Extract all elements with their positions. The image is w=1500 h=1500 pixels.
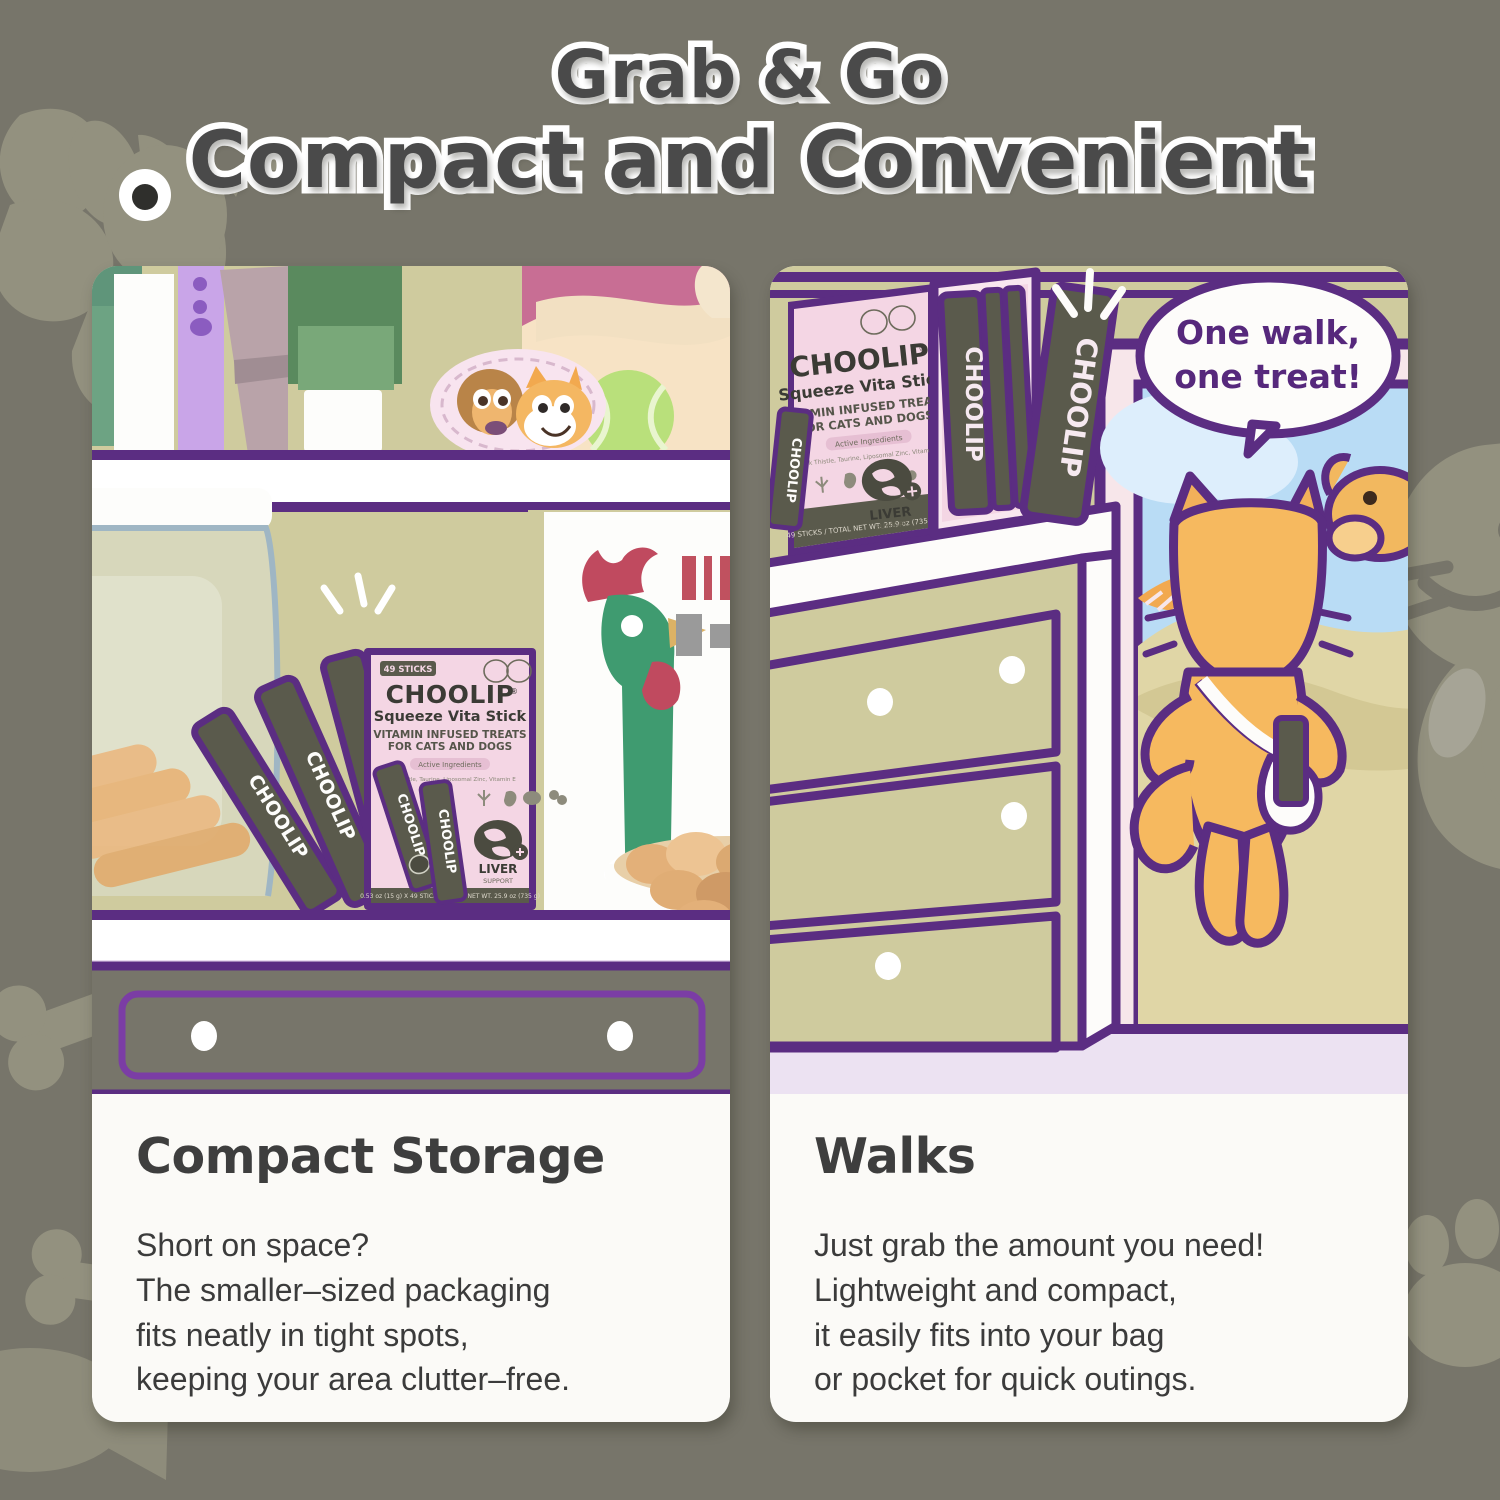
card-body-line: Lightweight and compact, bbox=[814, 1268, 1364, 1313]
card-body-line: Just grab the amount you need! bbox=[814, 1223, 1364, 1268]
illustration-doorway-walk: One walk, one treat! bbox=[770, 266, 1408, 1094]
dresser-knob bbox=[999, 656, 1025, 684]
illustration-pantry-shelf: CHOOLIP CHOOLIP CHOOLIP bbox=[92, 266, 730, 1094]
card-title: Walks bbox=[814, 1128, 1364, 1185]
svg-text:One walk,: One walk, bbox=[1176, 313, 1360, 352]
card-body-line: Short on space? bbox=[136, 1223, 686, 1268]
lower-shelf-board bbox=[92, 920, 730, 962]
feature-card-walks[interactable]: One walk, one treat! bbox=[770, 266, 1408, 1422]
dresser bbox=[770, 506, 1116, 1048]
drawer bbox=[92, 966, 730, 1094]
dresser-knob bbox=[867, 688, 893, 716]
drawer-knob bbox=[607, 1021, 633, 1051]
card-body-line: or pocket for quick outings. bbox=[814, 1357, 1364, 1402]
drawer-knob bbox=[191, 1021, 217, 1051]
svg-text:VITAMIN INFUSED TREATS: VITAMIN INFUSED TREATS bbox=[373, 729, 526, 741]
svg-text:®: ® bbox=[510, 687, 518, 696]
title-line-2: Compact and Convenient bbox=[0, 122, 1500, 200]
card-body-line: it easily fits into your bag bbox=[814, 1313, 1364, 1358]
card-title: Compact Storage bbox=[136, 1128, 686, 1185]
svg-text:SUPPORT: SUPPORT bbox=[483, 877, 513, 885]
product-box-choolip: 49 STICKS CHOOLIP ® Squeeze Vita Stick ™… bbox=[360, 648, 567, 910]
svg-text:FOR CATS AND DOGS: FOR CATS AND DOGS bbox=[388, 741, 512, 753]
dog-peeking bbox=[1325, 457, 1408, 558]
card-body-line: fits neatly in tight spots, bbox=[136, 1313, 686, 1358]
cereal-box bbox=[528, 510, 730, 978]
page-title: Grab & Go Compact and Convenient bbox=[0, 42, 1500, 200]
card-body: Short on space? The smaller–sized packag… bbox=[136, 1223, 686, 1402]
choolip-stick-in-bag bbox=[1276, 718, 1306, 804]
card-body-line: keeping your area clutter–free. bbox=[136, 1357, 686, 1402]
title-line-1: Grab & Go bbox=[0, 42, 1500, 108]
svg-text:LIVER: LIVER bbox=[479, 862, 518, 876]
choolip-sticks-in-box: CHOOLIP bbox=[940, 288, 1033, 513]
lower-shelf-edge bbox=[92, 910, 730, 920]
svg-text:CHOOLIP: CHOOLIP bbox=[386, 680, 515, 709]
dresser-knob bbox=[875, 952, 901, 980]
svg-text:®: ® bbox=[918, 344, 928, 355]
svg-text:CHOOLIP: CHOOLIP bbox=[960, 346, 986, 461]
product-box-choolip-open: 49 STICKS / TOTAL NET WT. 25.9 oz (735 g… bbox=[770, 272, 1116, 556]
top-shelf-items bbox=[92, 266, 730, 462]
card-body-line: The smaller–sized packaging bbox=[136, 1268, 686, 1313]
shelf-edge-top bbox=[92, 450, 730, 460]
card-text-block: Compact Storage Short on space? The smal… bbox=[92, 1094, 730, 1402]
svg-text:Squeeze Vita Stick: Squeeze Vita Stick bbox=[374, 709, 527, 725]
cookie-jar bbox=[92, 488, 278, 896]
svg-text:one treat!: one treat! bbox=[1174, 357, 1362, 396]
svg-text:49 STICKS: 49 STICKS bbox=[384, 665, 433, 675]
card-text-block: Walks Just grab the amount you need! Lig… bbox=[770, 1094, 1408, 1402]
svg-text:™: ™ bbox=[516, 709, 523, 717]
card-body: Just grab the amount you need! Lightweig… bbox=[814, 1223, 1364, 1402]
svg-text:Active Ingredients: Active Ingredients bbox=[418, 761, 482, 769]
feature-card-compact-storage[interactable]: CHOOLIP CHOOLIP CHOOLIP bbox=[92, 266, 730, 1422]
dresser-knob bbox=[1001, 802, 1027, 830]
